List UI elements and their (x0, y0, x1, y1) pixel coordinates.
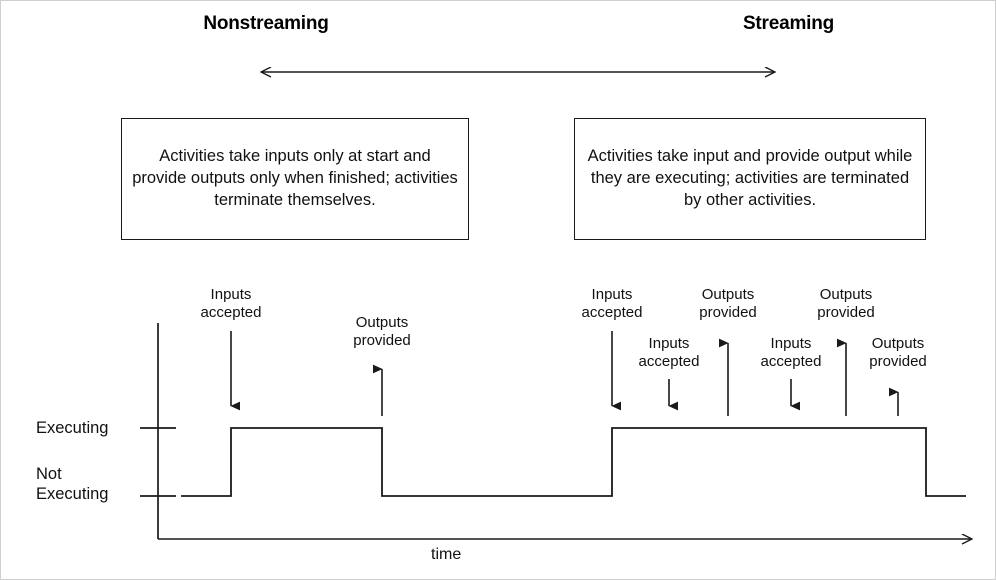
annotation-label-output-1: Outputs provided (353, 314, 411, 349)
diagram-canvas: Nonstreaming Streaming Activities take i… (0, 0, 996, 580)
annotation-label-input-0: Inputs accepted (201, 286, 262, 321)
annotation-label-input-2: Inputs accepted (582, 286, 643, 321)
description-box-nonstreaming: Activities take inputs only at start and… (121, 118, 469, 240)
description-text-streaming: Activities take input and provide output… (583, 146, 917, 212)
annotation-label-output-4: Outputs provided (699, 286, 757, 321)
header-nonstreaming: Nonstreaming (166, 13, 366, 35)
annotation-label-input-5: Inputs accepted (761, 335, 822, 370)
y-axis-label-executing: Executing (36, 418, 108, 438)
description-text-nonstreaming: Activities take inputs only at start and… (130, 146, 460, 212)
y-axis-label-not-executing: Not Executing (36, 464, 108, 504)
annotation-label-output-7: Outputs provided (869, 335, 927, 370)
execution-state-step-line (181, 428, 966, 496)
x-axis-label-time: time (431, 546, 461, 564)
annotation-label-output-6: Outputs provided (817, 286, 875, 321)
annotation-label-input-3: Inputs accepted (639, 335, 700, 370)
header-streaming: Streaming (701, 13, 876, 35)
description-box-streaming: Activities take input and provide output… (574, 118, 926, 240)
